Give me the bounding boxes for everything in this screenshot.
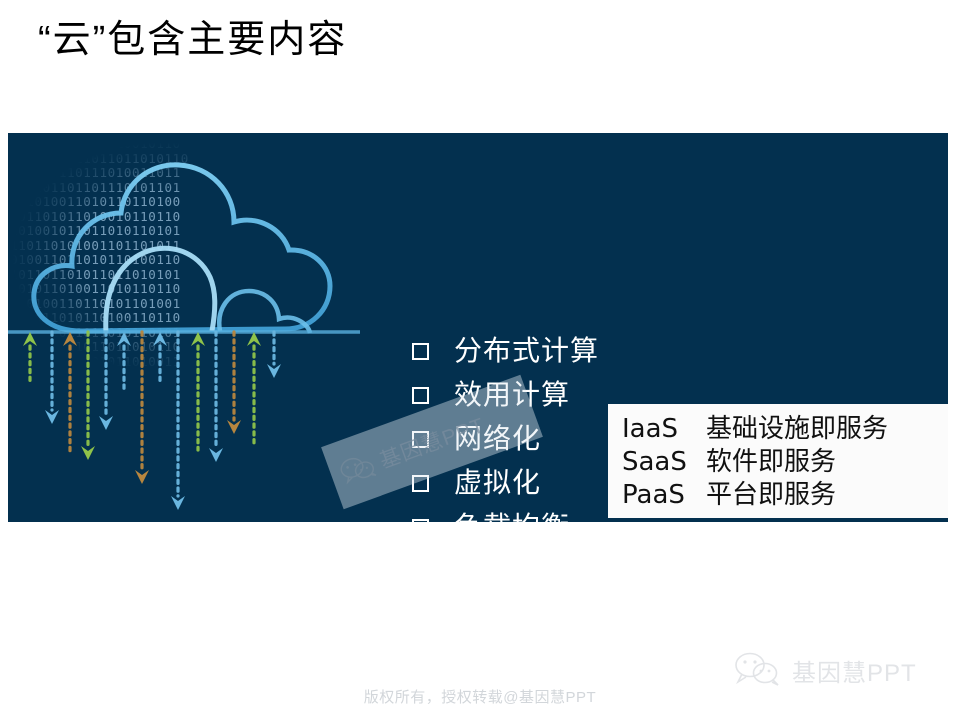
definition-row: PaaS 平台即服务 bbox=[622, 479, 948, 512]
list-item-label: 虚拟化 bbox=[454, 466, 541, 500]
definition-row: IaaS 基础设施即服务 bbox=[622, 413, 948, 446]
wechat-icon bbox=[734, 652, 782, 688]
definition-term: IaaS bbox=[622, 413, 706, 445]
definition-description: 基础设施即服务 bbox=[706, 413, 888, 445]
definition-description: 软件即服务 bbox=[706, 446, 836, 478]
list-item-label: 分布式计算 bbox=[454, 334, 599, 368]
definition-term: PaaS bbox=[622, 479, 706, 511]
data-flow-arrows bbox=[8, 328, 368, 522]
list-item: 负载均衡 bbox=[404, 505, 634, 522]
list-item-label: 负载均衡 bbox=[454, 510, 570, 522]
square-bullet-icon bbox=[412, 475, 429, 492]
square-bullet-icon bbox=[412, 431, 429, 448]
square-bullet-icon bbox=[412, 343, 429, 360]
list-item: 网络化 bbox=[404, 417, 634, 461]
binary-cloud-illustration: 1001011101101110010110 01011010011011011… bbox=[8, 133, 368, 522]
definition-row: SaaS 软件即服务 bbox=[622, 446, 948, 479]
square-bullet-icon bbox=[412, 387, 429, 404]
feature-bullet-list: 分布式计算 效用计算 网络化 虚拟化 负载均衡 热备份冗余 bbox=[404, 329, 634, 522]
definition-description: 平台即服务 bbox=[706, 479, 836, 511]
definition-term: SaaS bbox=[622, 446, 706, 478]
list-item: 分布式计算 bbox=[404, 329, 634, 373]
list-item-label: 效用计算 bbox=[454, 378, 570, 412]
list-item: 虚拟化 bbox=[404, 461, 634, 505]
copyright-note: 版权所有，授权转载@基因慧PPT bbox=[0, 686, 960, 707]
content-panel: 1001011101101110010110 01011010011011011… bbox=[8, 133, 948, 522]
brand-label: 基因慧PPT bbox=[792, 653, 917, 688]
square-bullet-icon bbox=[412, 519, 429, 523]
slide-canvas: “云”包含主要内容 1001011101101110010110 0101101… bbox=[0, 0, 960, 720]
page-title: “云”包含主要内容 bbox=[38, 14, 347, 66]
list-item-label: 网络化 bbox=[454, 422, 541, 456]
brand-mark: 基因慧PPT bbox=[734, 652, 917, 688]
service-models-box: IaaS 基础设施即服务 SaaS 软件即服务 PaaS 平台即服务 bbox=[608, 404, 948, 518]
list-item: 效用计算 bbox=[404, 373, 634, 417]
